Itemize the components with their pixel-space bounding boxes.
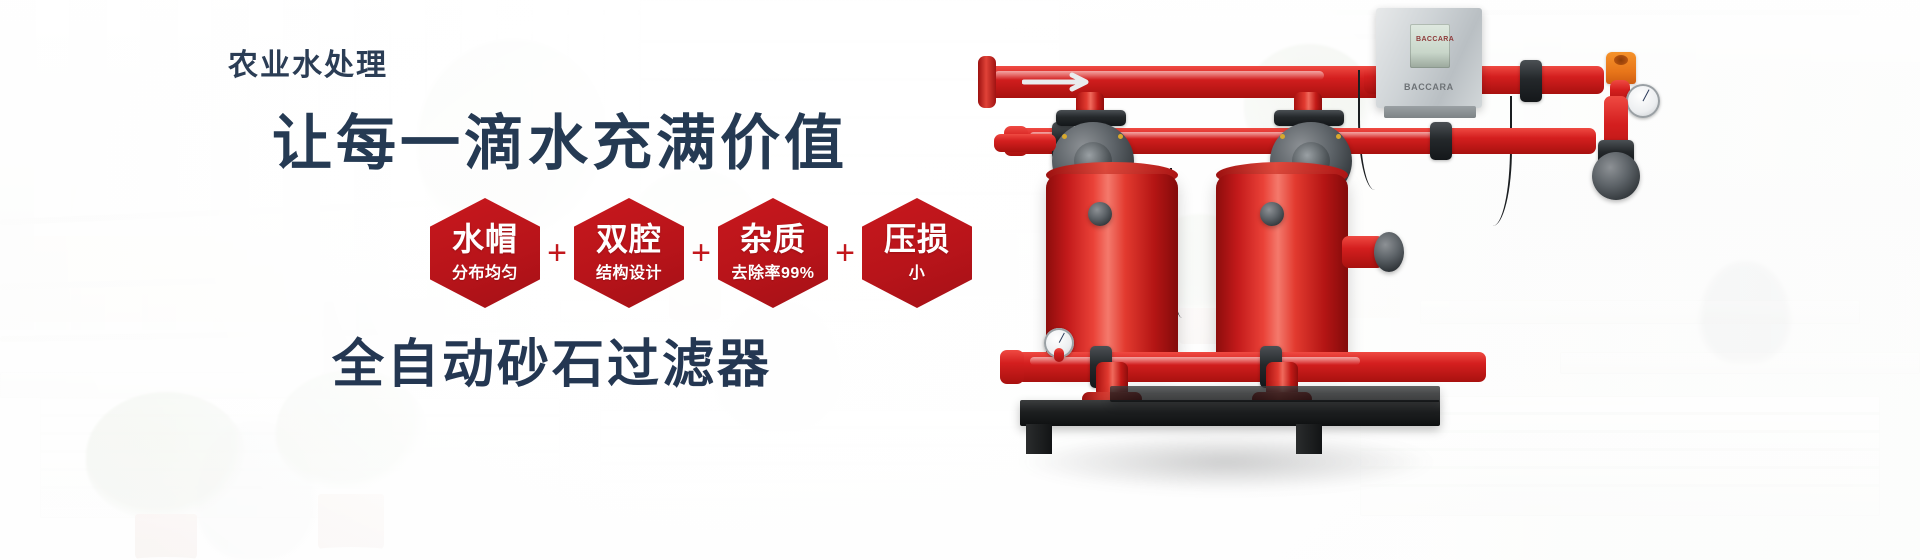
feature-badge-1: 水帽 分布均匀 — [430, 198, 540, 308]
valve-bolt-right-2 — [1336, 134, 1341, 139]
promo-banner: BACCARA BACCARA — [0, 0, 1920, 560]
headline-text: 让每一滴水充满价值 — [272, 95, 848, 182]
feature-badge-2-title: 双腔 — [596, 223, 662, 256]
feature-badge-3-title: 杂质 — [740, 223, 806, 256]
pressure-gauge-top — [1626, 84, 1660, 118]
eyebrow-text: 农业水处理 — [228, 40, 388, 84]
feature-badge-3: 杂质 去除率99% — [718, 198, 828, 308]
controller-screen — [1410, 24, 1450, 68]
tank-right-side-port — [1260, 202, 1284, 226]
badge-separator-3: + — [828, 236, 862, 270]
badge-separator-1: + — [540, 236, 574, 270]
feature-badge-3-subtitle: 去除率99% — [731, 259, 814, 283]
controller-screen-logo: BACCARA — [1416, 36, 1454, 43]
valve-opening — [1614, 55, 1628, 65]
tank-right-outlet-valve — [1374, 232, 1404, 272]
controller-wire-right — [1480, 96, 1512, 226]
right-side-valve — [1592, 152, 1640, 200]
pipe-collar-mid-right — [1430, 122, 1452, 160]
feature-badge-2-subtitle: 结构设计 — [596, 259, 662, 283]
feature-badge-4: 压损 小 — [862, 198, 972, 308]
feature-badge-1-subtitle: 分布均匀 — [452, 259, 518, 283]
sand-filter-equipment: BACCARA BACCARA — [960, 0, 1920, 560]
badge-separator-2: + — [684, 236, 718, 270]
feature-badge-group: 水帽 分布均匀 + 双腔 结构设计 + 杂质 去除率99% + 压损 小 — [430, 198, 972, 308]
base-frame-rear — [1110, 386, 1440, 402]
base-leg-right — [1296, 424, 1322, 454]
subline-text: 全自动砂石过滤器 — [332, 322, 772, 397]
controller-box: BACCARA BACCARA — [1376, 8, 1482, 108]
banner-copy: 农业水处理 让每一滴水充满价值 水帽 分布均匀 + 双腔 结构设计 + 杂质 去… — [0, 0, 1100, 560]
valve-bolt-left-2 — [1118, 134, 1123, 139]
tank-right — [1216, 174, 1348, 368]
valve-bolt-right-1 — [1280, 134, 1285, 139]
controller-brand-label: BACCARA — [1404, 82, 1454, 92]
feature-badge-4-title: 压损 — [884, 223, 950, 256]
pipe-collar-right-upper — [1520, 60, 1542, 102]
feature-badge-1-title: 水帽 — [452, 223, 518, 256]
feature-badge-2: 双腔 结构设计 — [574, 198, 684, 308]
feature-badge-4-subtitle: 小 — [909, 259, 926, 283]
controller-mount-bracket — [1384, 106, 1476, 118]
